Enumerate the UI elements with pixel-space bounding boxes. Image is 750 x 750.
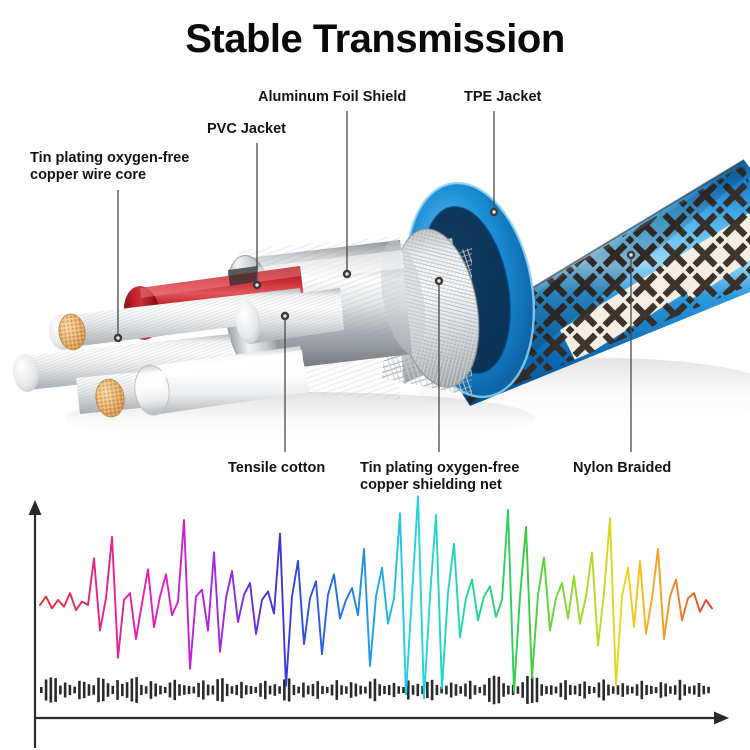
audio-bar	[107, 683, 110, 697]
callout-label-tin-plating-copper-wire-core: Tin plating oxygen-freecopper wire core	[30, 150, 189, 183]
audio-bar	[669, 686, 672, 693]
audio-bar	[102, 679, 105, 701]
callout-label-aluminum-foil-shield: Aluminum Foil Shield	[258, 89, 406, 105]
audio-bar	[588, 686, 591, 694]
callout-label-tin-plating-copper-shielding-net: Tin plating oxygen-freecopper shielding …	[360, 460, 519, 493]
audio-bar	[45, 679, 48, 700]
audio-bar	[269, 686, 272, 695]
audio-bar	[436, 685, 439, 695]
audio-bar	[555, 687, 558, 694]
audio-bar	[40, 687, 43, 693]
audio-bar	[702, 686, 705, 695]
audio-bar	[612, 686, 615, 693]
infographic-canvas: Stable Transmission	[0, 0, 750, 750]
audio-bar	[207, 685, 210, 696]
audio-bar	[574, 686, 577, 695]
audio-bar	[92, 685, 95, 695]
audio-bar	[459, 686, 462, 693]
audio-bar	[188, 686, 191, 694]
audio-bar	[264, 681, 267, 699]
audio-bar	[159, 686, 162, 695]
audio-bar	[683, 684, 686, 695]
audio-bar	[469, 681, 472, 699]
audio-bar	[502, 683, 505, 697]
audio-bar	[698, 683, 701, 697]
audio-bar	[545, 686, 548, 694]
audio-bar	[321, 686, 324, 694]
audio-bar	[97, 678, 100, 702]
audio-bar	[259, 683, 262, 697]
cable-illustration	[10, 140, 750, 444]
audio-bar	[498, 677, 501, 704]
audio-bar	[231, 686, 234, 693]
audio-bar	[550, 685, 553, 695]
audio-bar	[636, 684, 639, 696]
audio-bar	[116, 680, 119, 700]
cable-infographic-svg: Stable Transmission	[0, 0, 750, 750]
audio-bar	[559, 683, 562, 697]
leader-dot-inner-tensile-cotton	[283, 314, 286, 317]
audio-bar	[350, 682, 353, 698]
audio-bar	[54, 678, 57, 702]
audio-bar	[316, 681, 319, 699]
audio-bar	[69, 685, 72, 695]
audio-bar	[221, 678, 224, 702]
audio-bar	[326, 687, 329, 693]
audio-bar	[526, 676, 529, 704]
audio-bar	[293, 685, 296, 695]
audio-bar	[335, 680, 338, 700]
audio-bar	[78, 681, 81, 699]
audio-bar	[393, 683, 396, 697]
audio-bar	[150, 681, 153, 699]
audio-bar	[655, 687, 658, 693]
page-title: Stable Transmission	[185, 17, 565, 61]
audio-bar	[226, 684, 229, 696]
audio-bar	[202, 680, 205, 699]
audio-bar	[679, 680, 682, 700]
audio-bar	[73, 687, 76, 694]
signal-waveform-panel	[29, 496, 730, 748]
audio-bar	[431, 680, 434, 700]
x-axis-arrow	[714, 712, 729, 725]
audio-bar	[474, 685, 477, 695]
audio-bar	[569, 685, 572, 695]
audio-bar	[254, 687, 257, 693]
audio-bar	[131, 678, 134, 701]
audio-bar	[164, 687, 167, 693]
audio-bar	[579, 684, 582, 696]
audio-bar	[464, 684, 467, 697]
audio-bar	[488, 678, 491, 702]
audio-bar	[650, 686, 653, 694]
audio-bar	[641, 681, 644, 699]
audio-bar	[521, 682, 524, 698]
transmission-waveform	[40, 496, 712, 698]
audio-bar	[274, 684, 277, 696]
audio-bar	[235, 685, 238, 695]
audio-bar	[83, 682, 86, 698]
audio-bar	[674, 685, 677, 695]
audio-bar	[64, 683, 67, 698]
audio-bar	[369, 682, 372, 699]
audio-bar	[660, 682, 663, 698]
audio-bar	[340, 685, 343, 695]
audio-bar	[126, 682, 129, 698]
audio-bar	[397, 686, 400, 693]
audio-bar	[312, 684, 315, 696]
audio-bar	[540, 684, 543, 696]
audio-bar	[250, 686, 253, 694]
audio-bar	[626, 686, 629, 695]
audio-bar	[178, 684, 181, 696]
leader-dot-inner-aluminum-foil-shield	[345, 272, 348, 275]
audio-bar	[455, 684, 458, 696]
leader-dot-inner-nylon-braided	[629, 253, 632, 256]
audio-bar	[245, 685, 248, 695]
audio-level-bars	[40, 676, 710, 705]
audio-bar	[193, 687, 196, 694]
callout-label-tpe-jacket: TPE Jacket	[464, 89, 542, 105]
audio-bar	[297, 687, 300, 694]
audio-bar	[402, 687, 405, 693]
audio-bar	[664, 684, 667, 697]
audio-bar	[345, 686, 348, 693]
callout-label-tensile-cotton: Tensile cotton	[228, 460, 325, 476]
audio-bar	[135, 677, 138, 703]
audio-bar	[383, 686, 386, 694]
audio-bar	[307, 686, 310, 695]
audio-bar	[583, 682, 586, 699]
audio-bar	[645, 685, 648, 695]
audio-bar	[288, 678, 291, 701]
audio-bar	[412, 685, 415, 695]
audio-bar	[154, 684, 157, 697]
audio-bar	[364, 687, 367, 694]
audio-bar	[617, 685, 620, 695]
audio-bar	[417, 684, 420, 696]
audio-bar	[212, 686, 215, 695]
audio-bar	[240, 682, 243, 698]
audio-bar	[140, 685, 143, 695]
audio-bar	[621, 683, 624, 697]
audio-bar	[169, 683, 172, 698]
audio-bar	[493, 676, 496, 705]
leader-dot-inner-tpe-jacket	[492, 210, 495, 213]
audio-bar	[197, 683, 200, 697]
audio-bar	[355, 684, 358, 697]
audio-bar	[173, 680, 176, 700]
audio-bar	[121, 684, 124, 696]
audio-bar	[278, 686, 281, 693]
audio-bar	[445, 686, 448, 695]
audio-bar	[450, 683, 453, 698]
audio-bar	[378, 684, 381, 696]
audio-bar	[111, 686, 114, 694]
audio-bar	[59, 686, 62, 695]
audio-bar	[517, 686, 520, 693]
audio-bar	[359, 686, 362, 695]
audio-bar	[145, 686, 148, 693]
audio-bar	[602, 679, 605, 700]
audio-bar	[531, 677, 534, 703]
audio-bar	[478, 687, 481, 693]
y-axis-arrow	[29, 500, 42, 515]
audio-bar	[598, 683, 601, 698]
audio-bar	[50, 677, 53, 702]
audio-bar	[88, 684, 91, 696]
leader-dot-inner-tin-plating-copper-shielding-net	[437, 279, 440, 282]
audio-bar	[216, 679, 219, 701]
audio-bar	[536, 678, 539, 702]
audio-bar	[388, 685, 391, 695]
audio-bar	[302, 683, 305, 698]
audio-bar	[707, 687, 710, 693]
leader-dot-inner-pvc-jacket	[255, 283, 258, 286]
audio-bar	[688, 686, 691, 693]
audio-bar	[183, 685, 186, 695]
audio-bar	[607, 685, 610, 696]
callout-label-nylon-braided: Nylon Braided	[573, 460, 671, 476]
audio-bar	[693, 685, 696, 694]
audio-bar	[483, 685, 486, 696]
audio-bar	[593, 687, 596, 693]
audio-bar	[507, 686, 510, 695]
audio-bar	[426, 682, 429, 698]
callout-label-pvc-jacket: PVC Jacket	[207, 121, 286, 137]
leader-dot-inner-tin-plating-copper-wire-core	[116, 336, 119, 339]
audio-bar	[374, 679, 377, 701]
audio-bar	[564, 680, 567, 700]
audio-bar	[631, 687, 634, 694]
audio-bar	[331, 685, 334, 696]
